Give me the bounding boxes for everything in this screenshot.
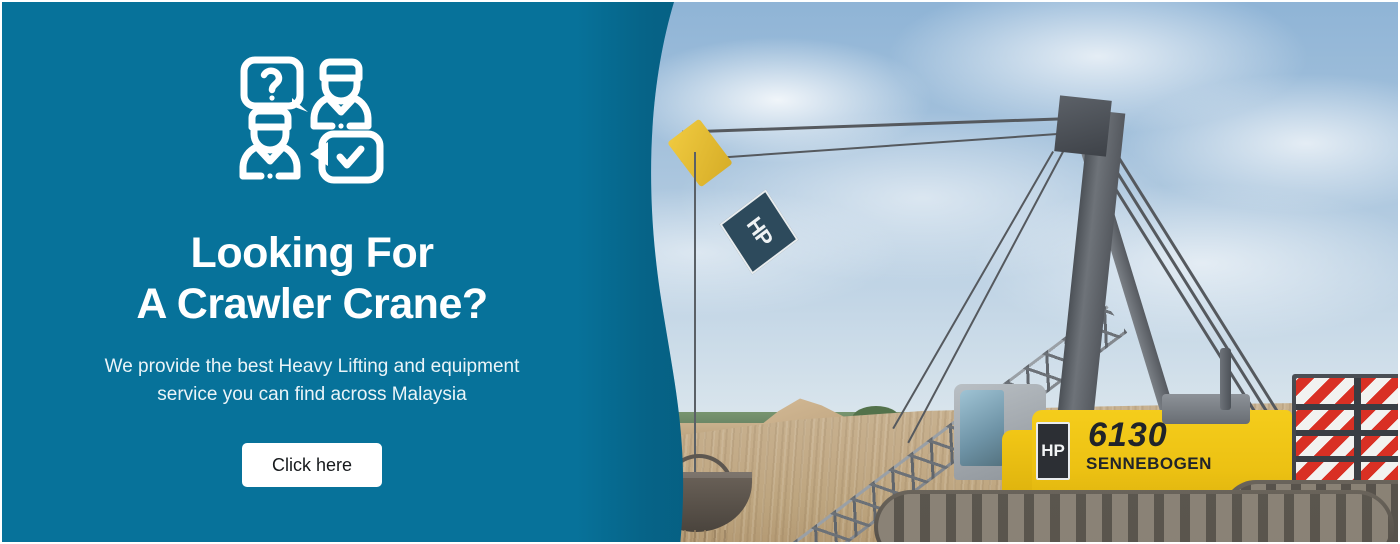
- exhaust-stack: [1220, 348, 1231, 410]
- headline-line-1: Looking For: [191, 229, 434, 277]
- hoist-rope: [694, 152, 696, 482]
- pendant-rope: [681, 132, 1072, 161]
- crane-brand-name: SENNEBOGEN: [1086, 454, 1212, 474]
- engine-cover: [1162, 394, 1250, 424]
- promo-banner: HP SENN: [0, 0, 1400, 544]
- hazard-divider: [1296, 430, 1400, 436]
- headline-line-2: A Crawler Crane?: [136, 279, 487, 330]
- hazard-divider: [1354, 378, 1361, 490]
- owner-badge: HP: [1036, 422, 1070, 480]
- hazard-divider: [1296, 456, 1400, 462]
- cab-window: [960, 390, 1004, 466]
- boom-placard: HP: [719, 189, 798, 274]
- crawler-track-front-pads: [878, 494, 1390, 544]
- mast-head: [1054, 95, 1112, 156]
- page-title: Looking For A Crawler Crane?: [136, 228, 487, 329]
- subtitle: We provide the best Heavy Lifting and eq…: [105, 353, 520, 408]
- boom-placard-text: HP: [741, 212, 777, 252]
- click-here-button[interactable]: Click here: [242, 443, 382, 487]
- consultation-people-icon: [238, 54, 386, 186]
- promo-content: Looking For A Crawler Crane? We provide …: [2, 2, 622, 544]
- crawler-crane: HP SENN: [602, 2, 1400, 544]
- crane-photo: HP SENN: [602, 2, 1400, 544]
- hazard-divider: [1296, 404, 1400, 410]
- pendant-rope: [682, 117, 1072, 134]
- crane-model-number: 6130: [1088, 416, 1168, 455]
- subtitle-line-2: service you can find across Malaysia: [105, 381, 520, 409]
- subtitle-line-1: We provide the best Heavy Lifting and eq…: [105, 356, 520, 377]
